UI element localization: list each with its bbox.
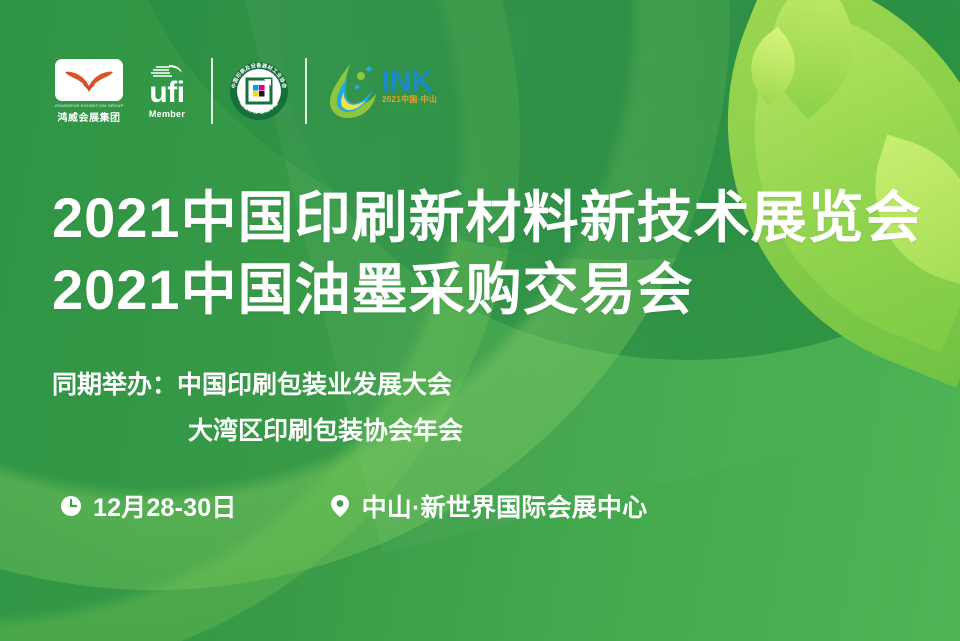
subtitle-block: 同期举办：中国印刷包装业发展大会 大湾区印刷包装协会年会	[52, 362, 463, 455]
logo-chinese-text: 鸿威会展集团	[58, 109, 121, 124]
headline-line-2: 2021中国油墨采购交易会	[52, 254, 922, 326]
subtitle-line-1: 同期举办：中国印刷包装业发展大会	[52, 362, 463, 408]
event-date: 12月28-30日	[60, 488, 237, 524]
event-date-text: 12月28-30日	[93, 488, 237, 524]
ink-droplet-icon	[328, 62, 378, 120]
event-info-row: 12月28-30日 中山·新世界国际会展中心	[60, 488, 647, 524]
headline-line-1: 2021中国印刷新材料新技术展览会	[52, 182, 922, 254]
leaf-shape-medium	[739, 0, 886, 119]
logo-printing-association-badge: 中国印刷及设备器材工业协会 油墨分会·会员单位	[230, 62, 288, 120]
logo-row: GRANDEUR EXHIBITION GROUP 鸿威会展集团 ufi Mem…	[54, 55, 440, 127]
leaf-shape-small	[734, 27, 813, 106]
event-venue-text: 中山·新世界国际会展中心	[362, 488, 648, 524]
logo-ink-expo: INK 2021中国·中山 油墨采购交易会	[328, 62, 440, 120]
logo-divider-2	[305, 58, 307, 124]
headline-block: 2021中国印刷新材料新技术展览会 2021中国油墨采购交易会	[52, 182, 922, 325]
clock-icon	[60, 495, 82, 517]
ink-text-block: INK 2021中国·中山 油墨采购交易会	[382, 68, 440, 115]
cmyk-square-icon	[244, 76, 274, 106]
event-poster: GRANDEUR EXHIBITION GROUP 鸿威会展集团 ufi Mem…	[0, 0, 960, 641]
logo-ufi-member: ufi Member	[140, 63, 194, 119]
logo-latin-text: GRANDEUR EXHIBITION GROUP	[55, 103, 124, 108]
ink-subtitle-line2: 油墨采购交易会	[382, 105, 440, 115]
ufi-member-label: Member	[149, 109, 185, 119]
subtitle-line-2: 大湾区印刷包装协会年会	[52, 408, 463, 454]
ink-wordmark: INK	[382, 68, 440, 95]
location-pin-icon	[329, 495, 351, 517]
logo-hongwei-exhibition-group: GRANDEUR EXHIBITION GROUP 鸿威会展集团	[54, 59, 124, 124]
wing-w-mark-icon	[64, 66, 114, 94]
ufi-wordmark: ufi	[149, 79, 184, 108]
logo-card	[55, 59, 123, 101]
event-venue: 中山·新世界国际会展中心	[329, 488, 648, 524]
logo-divider-1	[211, 58, 213, 124]
ink-subtitle-line1: 2021中国·中山	[382, 95, 440, 105]
badge-inner-disc	[237, 69, 281, 113]
